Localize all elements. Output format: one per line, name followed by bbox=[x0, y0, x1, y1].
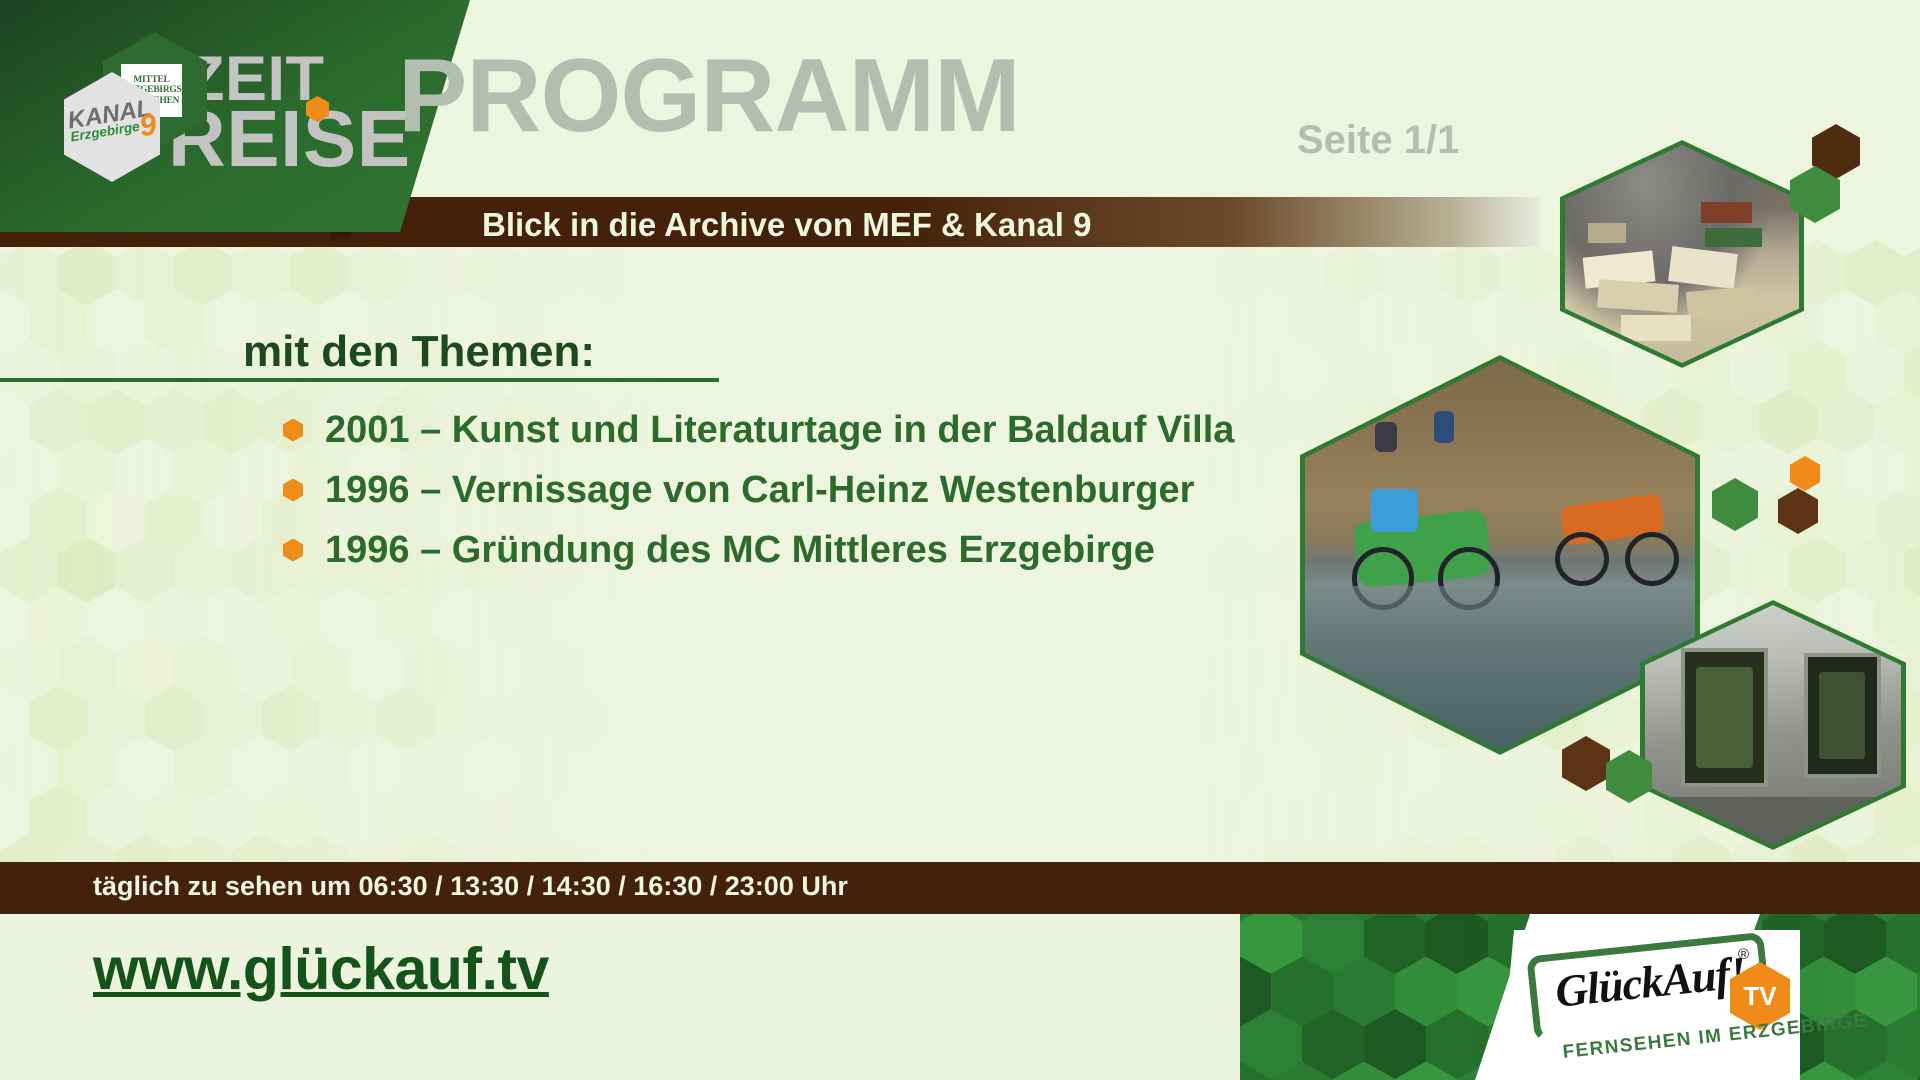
subtitle-text: Blick in die Archive von MEF & Kanal 9 bbox=[482, 206, 1091, 244]
website-url-link[interactable]: www.glückauf.tv bbox=[93, 935, 549, 1003]
page-indicator: Seite 1/1 bbox=[1297, 118, 1459, 163]
decor-hexagon-orange bbox=[1790, 456, 1820, 491]
list-item: 2001 – Kunst und Literaturtage in der Ba… bbox=[283, 400, 1234, 460]
registered-mark-icon: ® bbox=[1738, 946, 1749, 963]
topics-heading: mit den Themen: bbox=[243, 327, 595, 377]
list-item: 1996 – Gründung des MC Mittleres Erzgebi… bbox=[283, 520, 1234, 580]
topics-list: 2001 – Kunst und Literaturtage in der Ba… bbox=[283, 400, 1234, 580]
bullet-hexagon-icon bbox=[283, 479, 303, 502]
topics-heading-underline bbox=[0, 378, 719, 382]
mef-line1: MITTEL bbox=[133, 75, 169, 85]
schedule-text: täglich zu sehen um 06:30 / 13:30 / 14:3… bbox=[93, 871, 848, 902]
topic-text: 1996 – Vernissage von Carl-Heinz Westenb… bbox=[325, 469, 1194, 512]
kanal9-number: 9 bbox=[137, 108, 159, 144]
bullet-hexagon-icon bbox=[283, 539, 303, 562]
decor-hexagon-brown-2 bbox=[1562, 736, 1610, 791]
glueckauf-tv-logo[interactable]: GlückAuf! ® TV FERNSEHEN IM ERZGEBIRGE bbox=[1500, 930, 1800, 1080]
page-title: PROGRAMM bbox=[398, 44, 1020, 148]
decor-hexagon-green-2 bbox=[1712, 478, 1758, 531]
topic-text: 1996 – Gründung des MC Mittleres Erzgebi… bbox=[325, 529, 1155, 572]
tv-program-slide: ZEIT REISE MITTEL ERZGEBIRGS FERNSEHEN K… bbox=[0, 0, 1920, 1080]
photo-image bbox=[1565, 145, 1799, 363]
bullet-hexagon-icon bbox=[283, 419, 303, 442]
list-item: 1996 – Vernissage von Carl-Heinz Westenb… bbox=[283, 460, 1234, 520]
topic-text: 2001 – Kunst und Literaturtage in der Ba… bbox=[325, 409, 1234, 452]
decor-hexagon-brown bbox=[1778, 488, 1818, 534]
archive-boxes-photo bbox=[1560, 140, 1804, 368]
photo-image bbox=[1305, 360, 1695, 750]
